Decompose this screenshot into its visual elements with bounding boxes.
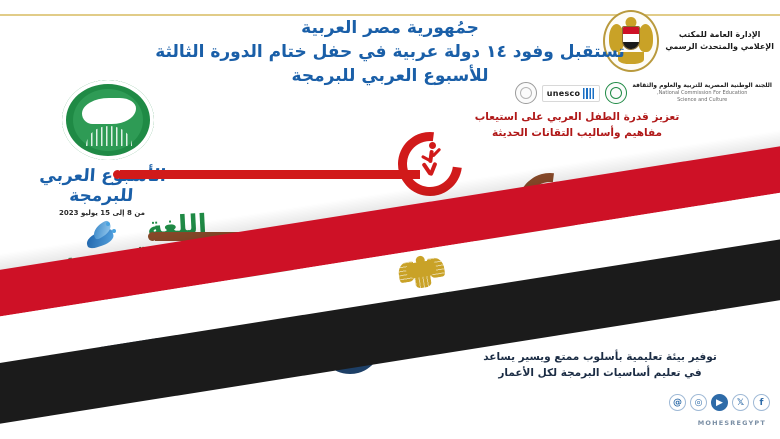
unesco-temple-icon [583, 88, 595, 99]
arab-league-emblem-icon [62, 80, 154, 160]
commission-english-2: Science and Culture [632, 97, 772, 104]
national-commission-text: اللجنة الوطنية المصرية للتربية والعلوم و… [632, 82, 772, 104]
title-line-1: جمُهورية مصر العربية [0, 16, 780, 40]
flag-eagle-icon [396, 252, 447, 293]
social-handle: MOHESREGYPT [698, 419, 766, 427]
facebook-icon[interactable]: f [753, 394, 770, 411]
social-links: f 𝕏 ▶ ◎ @ [669, 394, 770, 411]
bird-spark-1 [106, 222, 110, 226]
flag-eagle-tail [414, 276, 432, 289]
x-twitter-icon[interactable]: 𝕏 [732, 394, 749, 411]
goal-1-text: تعزيز قدرة الطفل العربي على استيعاب مفاه… [452, 110, 702, 142]
commission-english-1: National Commission For Education, [632, 90, 772, 97]
goal-1-line-1: تعزيز قدرة الطفل العربي على استيعاب [452, 110, 702, 126]
goal-1-line-2: مفاهيم وأساليب التقانات الحديثة [452, 126, 702, 142]
alecso-seal-icon [605, 82, 627, 104]
goal-1-bar [120, 170, 420, 179]
youtube-icon[interactable]: ▶ [711, 394, 728, 411]
threads-icon[interactable]: @ [669, 394, 686, 411]
instagram-icon[interactable]: ◎ [690, 394, 707, 411]
partner-logos: اللجنة الوطنية المصرية للتربية والعلوم و… [515, 82, 772, 104]
page-title: جمُهورية مصر العربية تستقبل وفود ١٤ دولة… [0, 16, 780, 88]
running-person-icon [418, 142, 444, 178]
unesco-logo-icon: unesco [542, 85, 601, 102]
infographic-poster: الإدارة العامة للمكتب الإعلامي والمتحدث … [0, 0, 780, 439]
title-line-2: تستقبل وفود ١٤ دولة عربية في حفل ختام ال… [0, 40, 780, 64]
bird-spark-2 [112, 229, 116, 233]
un-seal-icon [515, 82, 537, 104]
commission-arabic: اللجنة الوطنية المصرية للتربية والعلوم و… [632, 82, 772, 90]
unesco-wordmark: unesco [547, 89, 581, 98]
